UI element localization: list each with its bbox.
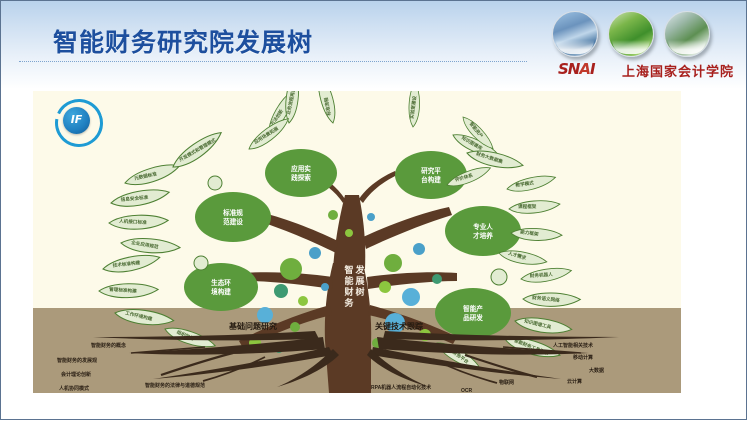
root-label-basic-0: 智能财务的概念: [91, 342, 126, 349]
snai-text: SN: [558, 60, 579, 78]
root-label-tech-3: 云计算: [567, 378, 582, 385]
root-label-tech-2: 大数据: [589, 367, 604, 374]
page-title: 智能财务研究院发展树: [53, 23, 313, 59]
trunk-label-char: 展: [355, 276, 364, 286]
branch-standard-specification: 标准规范建设 元数据标准 信息安全标准 人机接口标准 企业应用规范: [109, 129, 271, 258]
root-main-basic-research: 基础问题研究: [228, 321, 277, 331]
trunk-label-char: 务: [344, 297, 354, 308]
trunk-label-char: 智: [344, 264, 353, 275]
node-standard-specification: [195, 192, 271, 242]
tree-graphic: 应用实践探索 方法创新 业务流程再造 标准流程 应用场景拓展: [33, 91, 681, 393]
root-label-basic-2: 会计理论创新: [60, 371, 91, 378]
root-label-tech-0: 人工智能相关技术: [552, 342, 593, 349]
snai-tail: I: [590, 60, 595, 78]
garden-photo-icon: [664, 11, 718, 53]
root-label-tech-4: 物联网: [499, 379, 514, 386]
root-label-basic-4: 智能财务的法律与道德规范: [145, 382, 205, 389]
node-product-development: [435, 288, 511, 338]
trunk-label-char: 能: [344, 275, 353, 286]
slide-canvas: 智能财务研究院发展树 SNAI 上海国家会计学院: [0, 0, 747, 420]
branch-product-development: 智能产品研发 财务机器人 财务语义网络 知识图谱工具 智能财务工具引擎: [435, 267, 581, 375]
node-ecology-environment: [184, 263, 258, 311]
institute-logo: SNAI 上海国家会计学院: [552, 9, 742, 81]
branch-talent-cultivation: 专业人才培养 教学模式 课程框架 能力框架 人才需求: [445, 165, 563, 270]
leaf-label-talent-2: 课程框架: [518, 203, 537, 210]
root-label-tech-5: OCR: [461, 388, 473, 393]
institute-name: 上海国家会计学院: [622, 61, 734, 80]
branch-application-practice: 应用实践探索 方法创新 业务流程再造 标准流程 应用场景拓展: [245, 91, 338, 197]
trunk-label-char: 发: [354, 264, 365, 275]
slide-header: 智能财务研究院发展树 SNAI 上海国家会计学院: [1, 1, 747, 89]
root-label-basic-3: 人机协同模式: [58, 385, 89, 392]
root-label-basic-1: 智能财务的发展观: [57, 357, 97, 364]
title-divider: [19, 61, 527, 62]
root-label-tech-6: RPA机器人流程自动化技术: [371, 384, 431, 391]
snai-wordmark: SNAI: [558, 60, 595, 78]
campus-photo-icon: [552, 11, 606, 53]
brand-lockup: SNAI 上海国家会计学院: [552, 58, 742, 80]
development-tree-image: IF: [33, 91, 681, 393]
node-application-practice: [265, 149, 337, 197]
trunk-label-char: 树: [355, 286, 364, 297]
snai-slash: A: [579, 60, 590, 78]
trunk-label-char: 财: [343, 286, 353, 297]
root-label-tech-1: 移动计算: [573, 354, 593, 361]
node-research-platform: [395, 151, 467, 199]
leaf-photo-icon: [608, 11, 662, 53]
leaf-label-standard-4: 开发模式和管理模式: [178, 136, 218, 163]
node-talent-cultivation: [445, 206, 521, 256]
root-main-key-technology: 关键技术跟踪: [375, 321, 423, 331]
